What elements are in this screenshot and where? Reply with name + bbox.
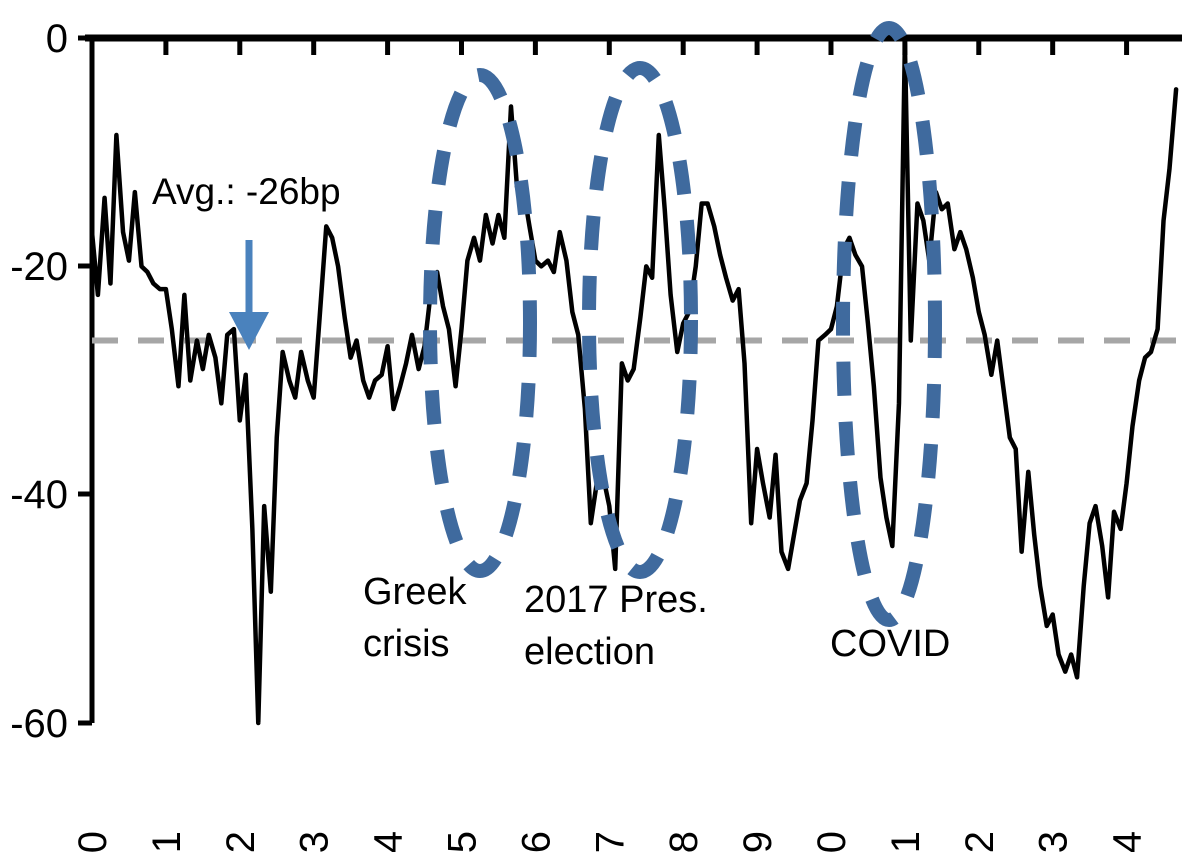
greek-crisis-label-line1: Greek bbox=[363, 571, 467, 613]
x-tick-label-2021: 2021 bbox=[884, 831, 928, 852]
greek-crisis-label-line2: crisis bbox=[363, 623, 450, 665]
election-label-line1: 2017 Pres. bbox=[524, 579, 708, 621]
x-tick-label-2016: 2016 bbox=[514, 831, 558, 852]
x-tick-label-2018: 2018 bbox=[662, 831, 706, 852]
chart-container: 0 -20 -40 -60 20102011201220132014201520… bbox=[0, 0, 1200, 852]
y-tick-label-1: -20 bbox=[10, 245, 68, 289]
y-tick-label-3: -60 bbox=[10, 702, 68, 746]
y-tick-label-0: 0 bbox=[46, 17, 68, 61]
x-tick-label-2014: 2014 bbox=[367, 831, 411, 852]
x-tick-label-2023: 2023 bbox=[1032, 831, 1076, 852]
x-tick-label-2015: 2015 bbox=[440, 831, 484, 852]
x-tick-label-2019: 2019 bbox=[736, 831, 780, 852]
x-tick-label-2024: 2024 bbox=[1106, 831, 1150, 852]
covid-label: COVID bbox=[830, 623, 950, 665]
election-label-line2: election bbox=[524, 631, 655, 673]
x-tick-label-2022: 2022 bbox=[958, 831, 1002, 852]
x-tick-label-2017: 2017 bbox=[588, 831, 632, 852]
x-tick-label-2020: 2020 bbox=[810, 831, 854, 852]
y-tick-label-2: -40 bbox=[10, 473, 68, 517]
line-chart: 0 -20 -40 -60 20102011201220132014201520… bbox=[0, 0, 1200, 852]
y-axis-labels: 0 -20 -40 -60 bbox=[10, 17, 68, 746]
avg-annotation-label: Avg.: -26bp bbox=[152, 171, 341, 212]
x-tick-label-2012: 2012 bbox=[219, 831, 263, 852]
x-tick-label-2013: 2013 bbox=[293, 831, 337, 852]
x-tick-label-2010: 2010 bbox=[71, 831, 115, 852]
x-tick-label-2011: 2011 bbox=[145, 831, 189, 852]
x-axis-labels: 2010201120122013201420152016201720182019… bbox=[71, 831, 1150, 852]
